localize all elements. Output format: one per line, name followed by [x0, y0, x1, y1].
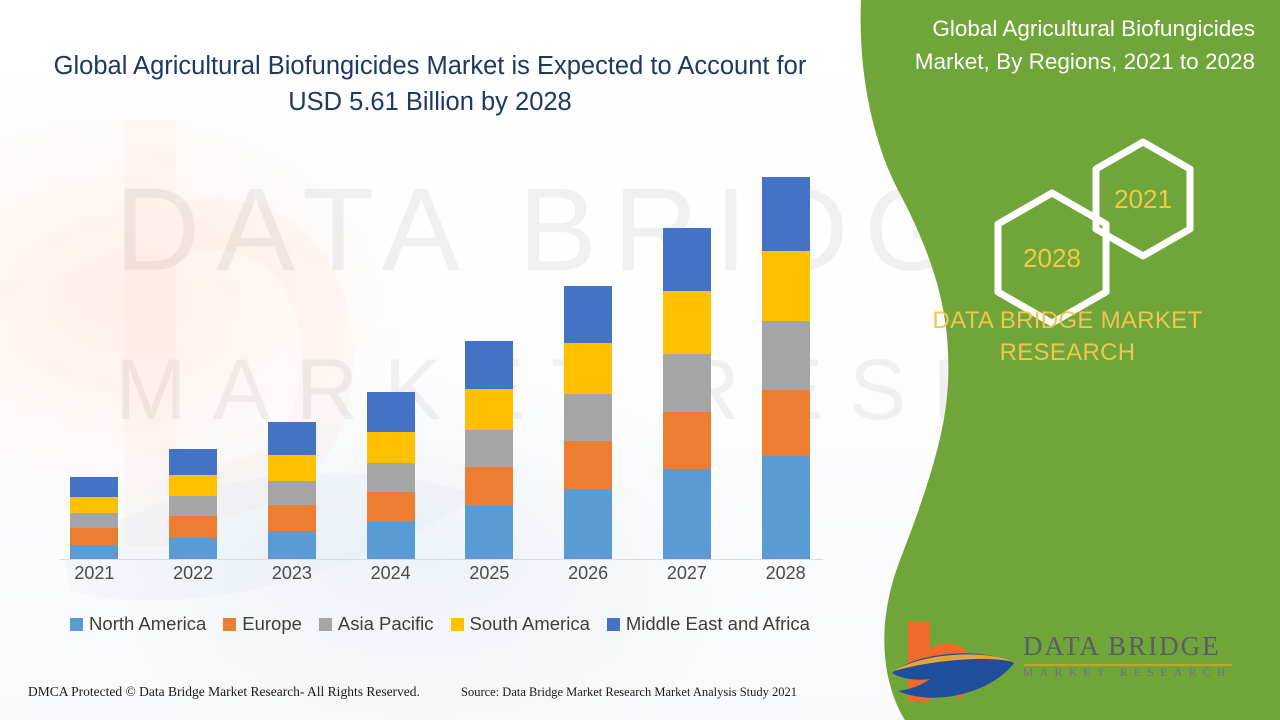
- legend-swatch-icon: [70, 618, 83, 631]
- bar-segment[interactable]: [367, 463, 415, 492]
- stacked-bar[interactable]: [762, 177, 810, 559]
- bar-segment[interactable]: [367, 392, 415, 431]
- stacked-bar[interactable]: [268, 422, 316, 559]
- bar-segment[interactable]: [70, 497, 118, 513]
- legend-item[interactable]: Asia Pacific: [319, 613, 434, 635]
- bar-column-2022[interactable]: [149, 150, 237, 559]
- stacked-bar[interactable]: [367, 392, 415, 559]
- legend-label: North America: [89, 613, 206, 635]
- logo-title: DATA BRIDGE: [1023, 631, 1232, 662]
- x-axis-labels: 20212022202320242025202620272028: [45, 563, 835, 593]
- legend-item[interactable]: Middle East and Africa: [607, 613, 810, 635]
- infographic-page: DATA BRIDGE MARKET RESEARCH Global Agric…: [0, 0, 1280, 720]
- bar-segment[interactable]: [70, 528, 118, 544]
- logo-tagline: MARKET RESEARCH: [1023, 667, 1232, 679]
- green-panel-content: Global Agricultural Biofungicides Market…: [855, 0, 1280, 720]
- chart-plot-area: [45, 150, 835, 560]
- stacked-bar[interactable]: [564, 286, 612, 559]
- chart-legend: North AmericaEuropeAsia PacificSouth Ame…: [45, 607, 835, 641]
- bar-segment[interactable]: [564, 489, 612, 559]
- bar-segment[interactable]: [465, 430, 513, 467]
- legend-swatch-icon: [451, 618, 464, 631]
- legend-item[interactable]: Europe: [223, 613, 302, 635]
- legend-item[interactable]: South America: [451, 613, 590, 635]
- bar-segment[interactable]: [762, 251, 810, 320]
- bar-segment[interactable]: [465, 389, 513, 430]
- x-axis-label-2024: 2024: [347, 563, 435, 593]
- bar-segment[interactable]: [564, 441, 612, 489]
- stacked-bar[interactable]: [70, 477, 118, 559]
- legend-label: South America: [470, 613, 590, 635]
- bar-segment[interactable]: [70, 513, 118, 528]
- source-note: Source: Data Bridge Market Research Mark…: [461, 685, 797, 700]
- stacked-bar-group: [45, 150, 835, 559]
- x-axis-line: [60, 559, 823, 560]
- hexagon-group: 2021 2028: [855, 135, 1280, 295]
- x-axis-label-2023: 2023: [248, 563, 336, 593]
- legend-item[interactable]: North America: [70, 613, 206, 635]
- logo-mark-icon: [888, 615, 1018, 705]
- logo-wordmark: DATA BRIDGE MARKET RESEARCH: [1023, 631, 1232, 679]
- bar-segment[interactable]: [663, 291, 711, 354]
- bar-column-2024[interactable]: [347, 150, 435, 559]
- stacked-bar[interactable]: [663, 228, 711, 559]
- legend-label: Asia Pacific: [338, 613, 434, 635]
- bar-segment[interactable]: [663, 412, 711, 469]
- bar-column-2026[interactable]: [544, 150, 632, 559]
- legend-swatch-icon: [319, 618, 332, 631]
- bar-segment[interactable]: [564, 394, 612, 441]
- bar-segment[interactable]: [465, 506, 513, 559]
- bar-column-2021[interactable]: [50, 150, 138, 559]
- logo-divider: [1024, 664, 1232, 666]
- bar-segment[interactable]: [268, 505, 316, 531]
- bar-segment[interactable]: [268, 481, 316, 505]
- x-axis-label-2027: 2027: [643, 563, 731, 593]
- bar-column-2025[interactable]: [445, 150, 533, 559]
- bar-segment[interactable]: [762, 390, 810, 455]
- bar-segment[interactable]: [169, 475, 217, 497]
- bar-segment[interactable]: [268, 531, 316, 559]
- bar-segment[interactable]: [367, 522, 415, 559]
- bar-segment[interactable]: [268, 422, 316, 455]
- stacked-bar[interactable]: [169, 449, 217, 559]
- bar-segment[interactable]: [762, 321, 810, 390]
- bar-segment[interactable]: [762, 456, 810, 559]
- legend-swatch-icon: [607, 618, 620, 631]
- bar-segment[interactable]: [663, 469, 711, 559]
- x-axis-label-2022: 2022: [149, 563, 237, 593]
- bar-segment[interactable]: [169, 538, 217, 559]
- panel-title: Global Agricultural Biofungicides Market…: [880, 12, 1255, 78]
- stacked-bar[interactable]: [465, 341, 513, 559]
- bar-segment[interactable]: [465, 467, 513, 506]
- x-axis-label-2028: 2028: [742, 563, 830, 593]
- data-bridge-logo: DATA BRIDGE MARKET RESEARCH: [888, 615, 1248, 705]
- legend-swatch-icon: [223, 618, 236, 631]
- bar-segment[interactable]: [169, 516, 217, 538]
- page-title: Global Agricultural Biofungicides Market…: [40, 48, 820, 120]
- x-axis-label-2026: 2026: [544, 563, 632, 593]
- bar-segment[interactable]: [663, 354, 711, 413]
- bar-segment[interactable]: [268, 455, 316, 482]
- legend-label: Europe: [242, 613, 302, 635]
- bar-column-2027[interactable]: [643, 150, 731, 559]
- bar-segment[interactable]: [465, 341, 513, 389]
- brand-name: DATA BRIDGE MARKET RESEARCH: [875, 305, 1260, 369]
- bar-segment[interactable]: [367, 492, 415, 523]
- bar-segment[interactable]: [169, 449, 217, 475]
- x-axis-label-2025: 2025: [445, 563, 533, 593]
- bar-segment[interactable]: [762, 177, 810, 251]
- bar-column-2028[interactable]: [742, 150, 830, 559]
- bar-segment[interactable]: [169, 496, 217, 516]
- bar-segment[interactable]: [564, 343, 612, 394]
- legend-label: Middle East and Africa: [626, 613, 810, 635]
- bar-segment[interactable]: [70, 545, 118, 559]
- bar-segment[interactable]: [564, 286, 612, 343]
- bar-column-2023[interactable]: [248, 150, 336, 559]
- x-axis-label-2021: 2021: [50, 563, 138, 593]
- bar-segment[interactable]: [367, 432, 415, 463]
- dmca-notice: DMCA Protected © Data Bridge Market Rese…: [28, 684, 420, 700]
- bar-segment[interactable]: [663, 228, 711, 291]
- bar-segment[interactable]: [70, 477, 118, 497]
